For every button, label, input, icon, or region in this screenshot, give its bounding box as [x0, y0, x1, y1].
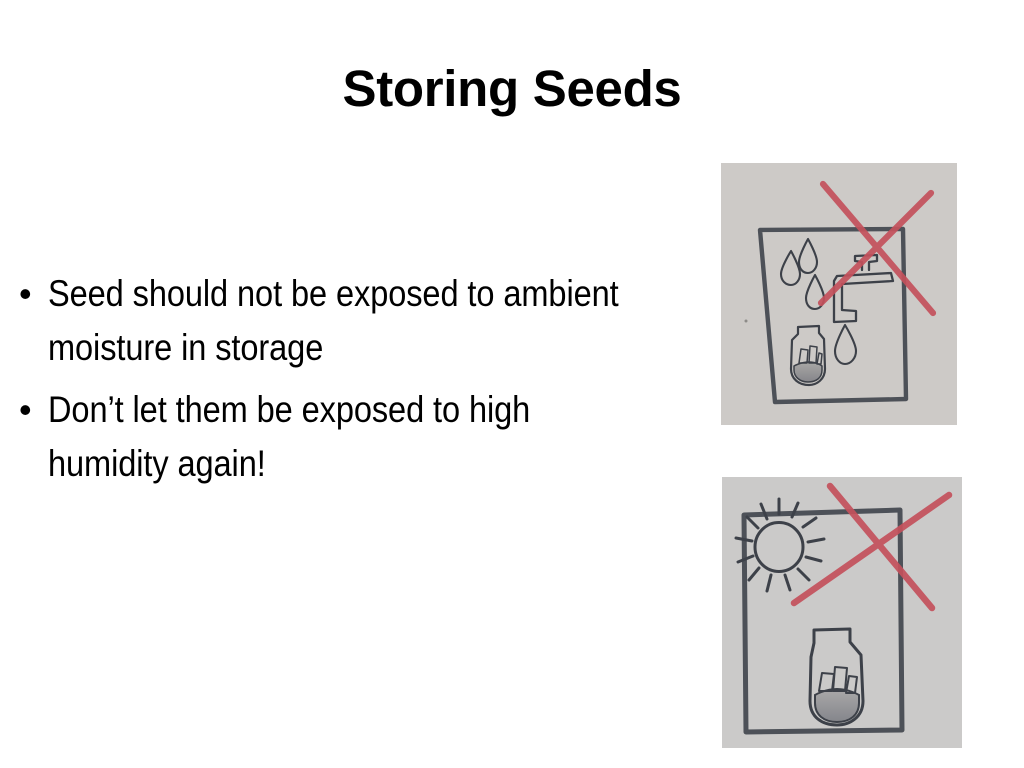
bullet-marker-icon: •: [10, 267, 48, 321]
presentation-slide: Storing Seeds • Seed should not be expos…: [0, 0, 1024, 768]
no-sunlight-sketch-drawing: [722, 477, 962, 748]
no-moisture-sketch-drawing: [721, 163, 957, 425]
bullet-marker-icon: •: [10, 383, 48, 437]
bullet-text: Don’t let them be exposed to high humidi…: [48, 383, 622, 491]
bullet-text: Seed should not be exposed to ambient mo…: [48, 267, 622, 375]
paper-speck: [745, 320, 748, 323]
no-sunlight-sketch-image: [722, 477, 962, 748]
page-title: Storing Seeds: [0, 60, 1024, 117]
no-moisture-sketch-image: [721, 163, 957, 425]
bullet-list: • Seed should not be exposed to ambient …: [10, 267, 700, 499]
list-item: • Don’t let them be exposed to high humi…: [10, 383, 700, 491]
list-item: • Seed should not be exposed to ambient …: [10, 267, 700, 375]
